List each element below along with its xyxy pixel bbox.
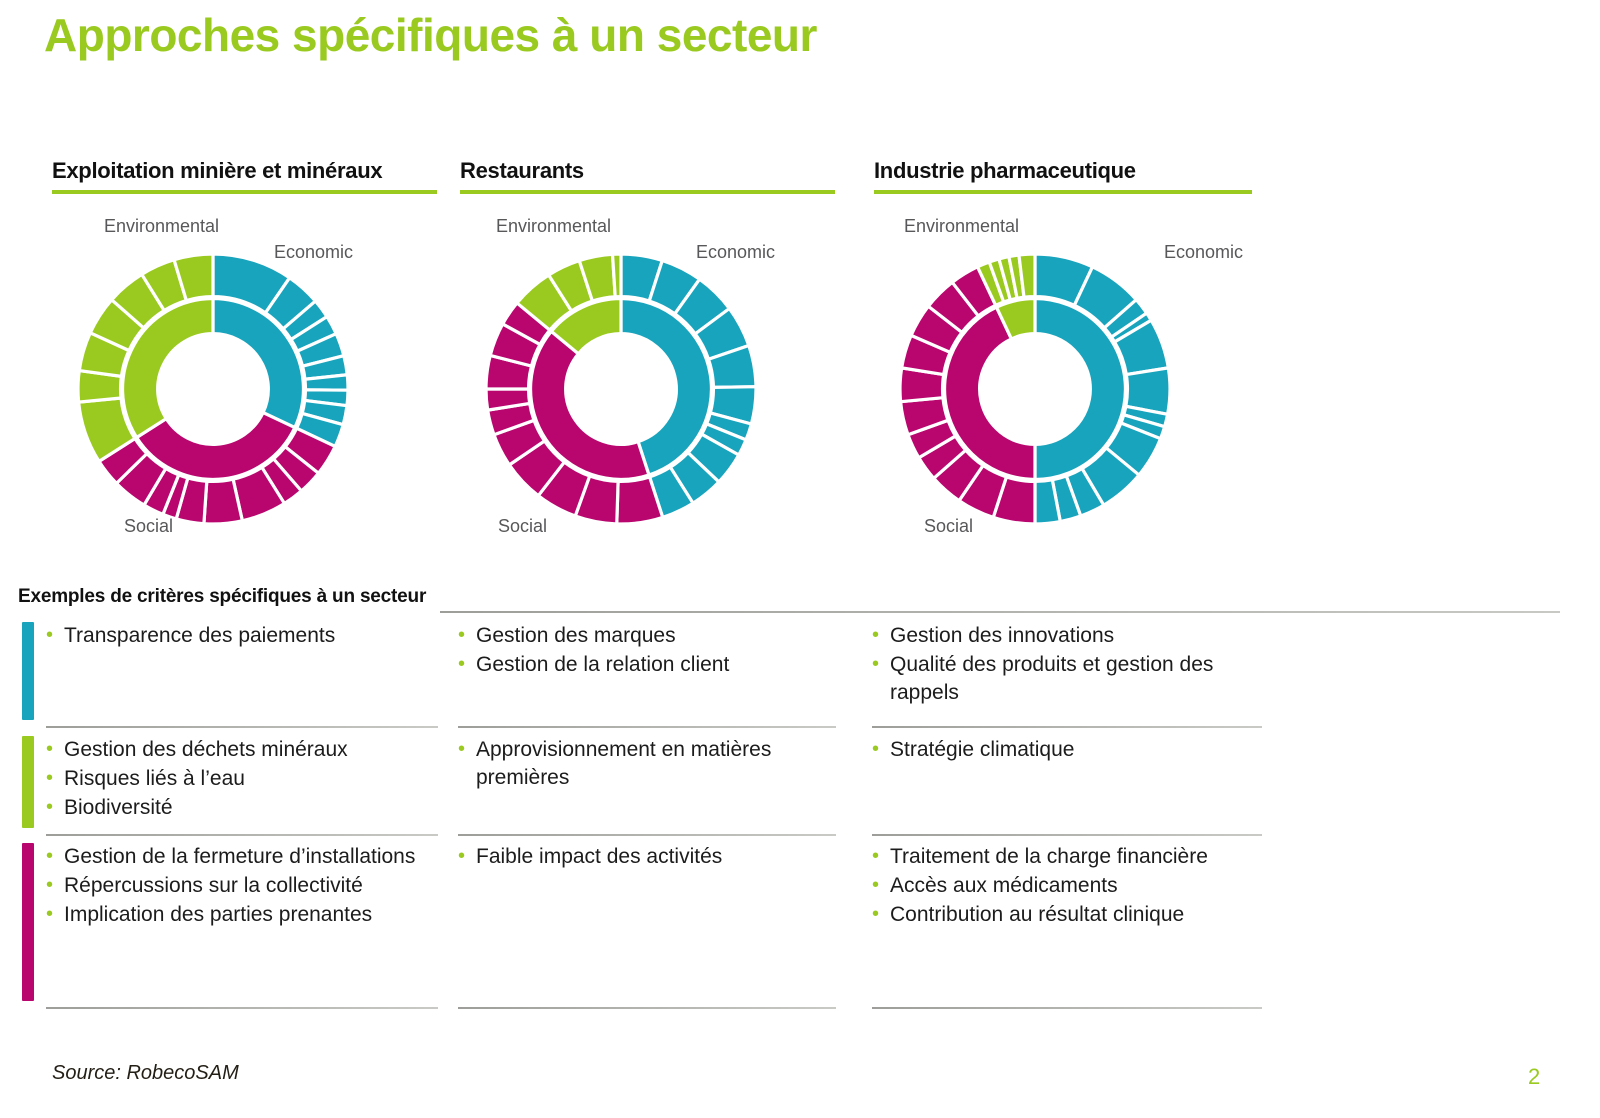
sector-column-1: Exploitation minière et minérauxEnvironm… [52, 158, 437, 546]
criteria-section-heading: Exemples de critères spécifiques à un se… [18, 586, 426, 608]
criteria-row-social: Gestion de la fermeture d’installationsR… [0, 843, 1600, 1015]
donut-chart-wrapper-2: EnvironmentalEconomicSocial [460, 216, 835, 546]
criteria-list: Traitement de la charge financièreAccès … [872, 843, 1262, 929]
criteria-cell-rule [46, 1007, 438, 1009]
list-item: Gestion des marques [458, 622, 836, 650]
criteria-cell-rule [872, 834, 1262, 836]
donut-label-environmental: Environmental [496, 216, 611, 237]
nested-donut-chart [78, 254, 348, 524]
sector-title-underline [874, 190, 1252, 194]
list-item: Contribution au résultat clinique [872, 901, 1262, 929]
criteria-cell-economic-col3: Gestion des innovationsQualité des produ… [872, 622, 1262, 708]
sector-column-3: Industrie pharmaceutiqueEnvironmentalEco… [874, 158, 1252, 546]
list-item: Biodiversité [46, 794, 438, 822]
criteria-list: Approvisionnement en matières premières [458, 736, 836, 792]
nested-donut-chart [486, 254, 756, 524]
criteria-color-bar-social [22, 843, 34, 1001]
criteria-cell-rule [46, 834, 438, 836]
criteria-list: Faible impact des activités [458, 843, 836, 871]
criteria-cell-social-col2: Faible impact des activités [458, 843, 836, 872]
donut-chart-wrapper-1: EnvironmentalEconomicSocial [52, 216, 437, 546]
list-item: Gestion des innovations [872, 622, 1262, 650]
criteria-cell-rule [872, 726, 1262, 728]
sector-title-1: Exploitation minière et minéraux [52, 158, 437, 190]
donut-label-environmental: Environmental [104, 216, 219, 237]
list-item: Répercussions sur la collectivité [46, 872, 438, 900]
criteria-list: Stratégie climatique [872, 736, 1262, 764]
criteria-list: Transparence des paiements [46, 622, 438, 650]
criteria-cell-rule [46, 726, 438, 728]
criteria-heading-rule [440, 611, 1560, 613]
criteria-cell-social-col3: Traitement de la charge financièreAccès … [872, 843, 1262, 930]
criteria-cell-rule [458, 834, 836, 836]
donut-label-social: Social [924, 516, 973, 537]
criteria-list: Gestion des déchets minérauxRisques liés… [46, 736, 438, 822]
criteria-cell-rule [458, 1007, 836, 1009]
list-item: Traitement de la charge financière [872, 843, 1262, 871]
criteria-cell-rule [458, 726, 836, 728]
criteria-cell-economic-col2: Gestion des marquesGestion de la relatio… [458, 622, 836, 680]
criteria-list: Gestion de la fermeture d’installationsR… [46, 843, 438, 929]
criteria-row-economic: Transparence des paiementsGestion des ma… [0, 622, 1600, 734]
donut-chart-wrapper-3: EnvironmentalEconomicSocial [874, 216, 1252, 546]
criteria-cell-environmental-col3: Stratégie climatique [872, 736, 1262, 765]
criteria-cell-environmental-col1: Gestion des déchets minérauxRisques liés… [46, 736, 438, 823]
list-item: Stratégie climatique [872, 736, 1262, 764]
criteria-cell-social-col1: Gestion de la fermeture d’installationsR… [46, 843, 438, 930]
criteria-cell-environmental-col2: Approvisionnement en matières premières [458, 736, 836, 793]
list-item: Gestion des déchets minéraux [46, 736, 438, 764]
sector-title-underline [52, 190, 437, 194]
list-item: Implication des parties prenantes [46, 901, 438, 929]
sector-title-2: Restaurants [460, 158, 835, 190]
donut-label-economic: Economic [1164, 242, 1243, 263]
source-note: Source: RobecoSAM [52, 1062, 239, 1085]
list-item: Gestion de la fermeture d’installations [46, 843, 438, 871]
donut-label-economic: Economic [274, 242, 353, 263]
nested-donut-chart [900, 254, 1170, 524]
donut-outer-segment-economic-7 [305, 375, 348, 390]
list-item: Gestion de la relation client [458, 651, 836, 679]
list-item: Risques liés à l’eau [46, 765, 438, 793]
sector-title-underline [460, 190, 835, 194]
page-title: Approches spécifiques à un secteur [44, 8, 817, 62]
donut-label-environmental: Environmental [904, 216, 1019, 237]
donut-label-economic: Economic [696, 242, 775, 263]
criteria-color-bar-economic [22, 622, 34, 720]
criteria-cell-economic-col1: Transparence des paiements [46, 622, 438, 651]
list-item: Qualité des produits et gestion des rapp… [872, 651, 1262, 707]
donut-label-social: Social [498, 516, 547, 537]
donut-outer-segment-environmental-4 [613, 254, 621, 297]
criteria-color-bar-environmental [22, 736, 34, 828]
list-item: Accès aux médicaments [872, 872, 1262, 900]
sector-column-2: RestaurantsEnvironmentalEconomicSocial [460, 158, 835, 546]
list-item: Approvisionnement en matières premières [458, 736, 836, 792]
criteria-list: Gestion des marquesGestion de la relatio… [458, 622, 836, 679]
list-item: Faible impact des activités [458, 843, 836, 871]
page-number: 2 [1528, 1064, 1540, 1090]
criteria-list: Gestion des innovationsQualité des produ… [872, 622, 1262, 707]
criteria-cell-rule [872, 1007, 1262, 1009]
donut-label-social: Social [124, 516, 173, 537]
criteria-row-environmental: Gestion des déchets minérauxRisques liés… [0, 736, 1600, 842]
sector-title-3: Industrie pharmaceutique [874, 158, 1252, 190]
list-item: Transparence des paiements [46, 622, 438, 650]
